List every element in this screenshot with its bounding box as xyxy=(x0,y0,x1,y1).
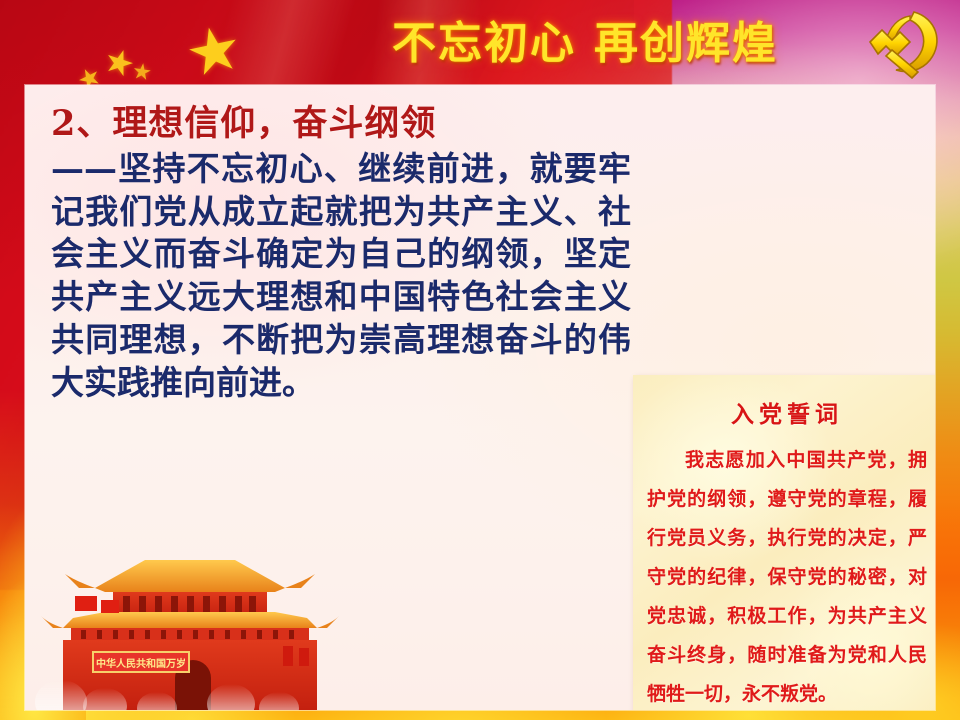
slide-root: ★ ★ ★ ★ 不忘初心 再创辉煌 xyxy=(0,0,960,720)
slide-header-title: 不忘初心 再创辉煌 xyxy=(330,8,840,70)
section-heading: 2、理想信仰，奋斗纲领 xyxy=(51,103,631,146)
content-panel: 中华人民共和国万岁 xyxy=(25,85,935,710)
section-body-text: ——坚持不忘初心、继续前进，就要牢记我们党从成立起就把为共产主义、社会主义而奋斗… xyxy=(51,148,631,405)
oath-card-body: 我志愿加入中国共产党，拥护党的纲领，遵守党的章程，履行党员义务，执行党的决定，严… xyxy=(647,441,927,710)
tiananmen-illustration: 中华人民共和国万岁 xyxy=(35,530,365,710)
flag-star-small-3: ★ xyxy=(131,61,154,86)
content-text-block: 2、理想信仰，奋斗纲领 ——坚持不忘初心、继续前进，就要牢记我们党从成立起就把为… xyxy=(51,103,631,405)
header-title-part1: 不忘初心 xyxy=(392,7,576,71)
party-oath-card: 入党誓词 我志愿加入中国共产党，拥护党的纲领，遵守党的章程，履行党员义务，执行党… xyxy=(633,375,935,710)
oath-card-title: 入党誓词 xyxy=(647,395,927,429)
hammer-and-sickle-icon xyxy=(852,2,952,84)
svg-text:中华人民共和国万岁: 中华人民共和国万岁 xyxy=(96,657,186,670)
flag-star-large: ★ xyxy=(180,15,247,87)
header-title-part2: 再创辉煌 xyxy=(594,7,778,71)
